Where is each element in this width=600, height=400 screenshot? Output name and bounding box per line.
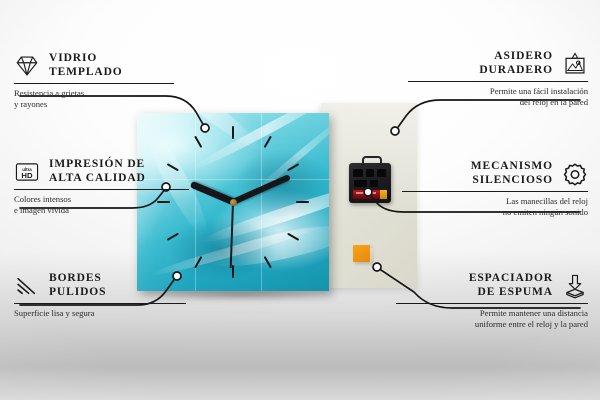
- callout-rule: [408, 81, 588, 82]
- callout-impresion-alta-calidad[interactable]: ultra HD IMPRESIÓN DE ALTA CALIDAD Color…: [14, 158, 189, 215]
- callout-header: ESPACIADOR DE ESPUMA: [396, 272, 588, 299]
- callout-header: VIDRIO TEMPLADO: [14, 52, 174, 79]
- callout-rule: [14, 303, 186, 304]
- mechanism-detail: [370, 180, 378, 187]
- callout-desc-line2: y rayones: [14, 99, 174, 110]
- callout-title: ASIDERO DURADERO: [479, 50, 553, 77]
- callout-description: Permite una fácil instalación del reloj …: [408, 86, 588, 107]
- diamond-icon: [14, 53, 40, 79]
- battery-label-stripe: [356, 192, 376, 194]
- callout-desc-line1: Superficie lisa y segura: [14, 308, 186, 319]
- callout-description: Resistencia a grietas y rayones: [14, 88, 174, 109]
- callout-description: Permite mantener una distancia uniforme …: [396, 308, 588, 329]
- clock-center-pivot: [230, 199, 237, 206]
- mechanism-detail: [353, 169, 363, 177]
- callout-desc-line1: Resistencia a grietas: [14, 88, 174, 99]
- polished-edges-icon: [14, 273, 40, 299]
- callout-title: BORDES PULIDOS: [49, 272, 106, 299]
- callout-header: ultra HD IMPRESIÓN DE ALTA CALIDAD: [14, 158, 189, 185]
- callout-header: BORDES PULIDOS: [14, 272, 186, 299]
- callout-title-line2: DE ESPUMA: [469, 286, 553, 300]
- callout-title-line2: PULIDOS: [49, 286, 106, 300]
- infographic-stage: VIDRIO TEMPLADO Resistencia a grietas y …: [0, 0, 600, 400]
- callout-title-line1: ESPACIADOR: [469, 272, 553, 286]
- callout-rule: [402, 191, 588, 192]
- callout-desc-line2: no emiten ningún sonido: [402, 207, 588, 218]
- mechanism-hanger-hook: [362, 156, 382, 167]
- callout-header: MECANISMO SILENCIOSO: [402, 160, 588, 187]
- foam-spacer-icon: [562, 273, 588, 299]
- callout-title: MECANISMO SILENCIOSO: [471, 160, 553, 187]
- aa-battery: [353, 190, 387, 199]
- callout-title-line1: MECANISMO: [471, 160, 553, 174]
- callout-desc-line1: Colores intensos: [14, 194, 189, 205]
- callout-description: Colores intensos e imagen vívida: [14, 194, 189, 215]
- svg-text:HD: HD: [21, 171, 33, 180]
- callout-rule: [14, 83, 174, 84]
- orange-foam-spacer: [353, 245, 370, 262]
- callout-title-line1: VIDRIO: [49, 52, 123, 66]
- callout-description: Superficie lisa y segura: [14, 308, 186, 319]
- callout-title-line2: TEMPLADO: [49, 66, 123, 80]
- callout-title-line2: DURADERO: [479, 64, 553, 78]
- callout-title-line2: SILENCIOSO: [471, 174, 553, 188]
- mechanism-detail: [377, 169, 386, 177]
- callout-desc-line1: Permite una fácil instalación: [408, 86, 588, 97]
- callout-mecanismo-silencioso[interactable]: MECANISMO SILENCIOSO Las manecillas del …: [402, 160, 588, 217]
- callout-title-line1: IMPRESIÓN DE: [49, 158, 146, 172]
- callout-espaciador-de-espuma[interactable]: ESPACIADOR DE ESPUMA Permite mantener un…: [396, 272, 588, 329]
- callout-desc-line1: Las manecillas del reloj: [402, 196, 588, 207]
- callout-desc-line2: uniforme entre el reloj y la pared: [396, 319, 588, 330]
- callout-rule: [14, 189, 189, 190]
- callout-title: IMPRESIÓN DE ALTA CALIDAD: [49, 158, 146, 185]
- quartz-clock-mechanism: [349, 163, 391, 203]
- mechanism-detail: [354, 180, 367, 187]
- callout-vidrio-templado[interactable]: VIDRIO TEMPLADO Resistencia a grietas y …: [14, 52, 174, 109]
- hanging-picture-icon: [562, 51, 588, 77]
- callout-header: ASIDERO DURADERO: [408, 50, 588, 77]
- callout-bordes-pulidos[interactable]: BORDES PULIDOS Superficie lisa y segura: [14, 272, 186, 319]
- battery-positive-terminal: [380, 190, 387, 199]
- gear-icon: [562, 161, 588, 187]
- ultra-hd-icon: ultra HD: [14, 159, 40, 185]
- callout-description: Las manecillas del reloj no emiten ningú…: [402, 196, 588, 217]
- callout-rule: [396, 303, 588, 304]
- callout-title: ESPACIADOR DE ESPUMA: [469, 272, 553, 299]
- callout-desc-line1: Permite mantener una distancia: [396, 308, 588, 319]
- mechanism-detail: [366, 169, 374, 177]
- callout-desc-line2: del reloj en la pared: [408, 97, 588, 108]
- callout-title: VIDRIO TEMPLADO: [49, 52, 123, 79]
- callout-title-line1: BORDES: [49, 272, 106, 286]
- callout-asidero-duradero[interactable]: ASIDERO DURADERO Permite una fácil insta…: [408, 50, 588, 107]
- callout-desc-line2: e imagen vívida: [14, 205, 189, 216]
- callout-title-line1: ASIDERO: [479, 50, 553, 64]
- callout-title-line2: ALTA CALIDAD: [49, 172, 146, 186]
